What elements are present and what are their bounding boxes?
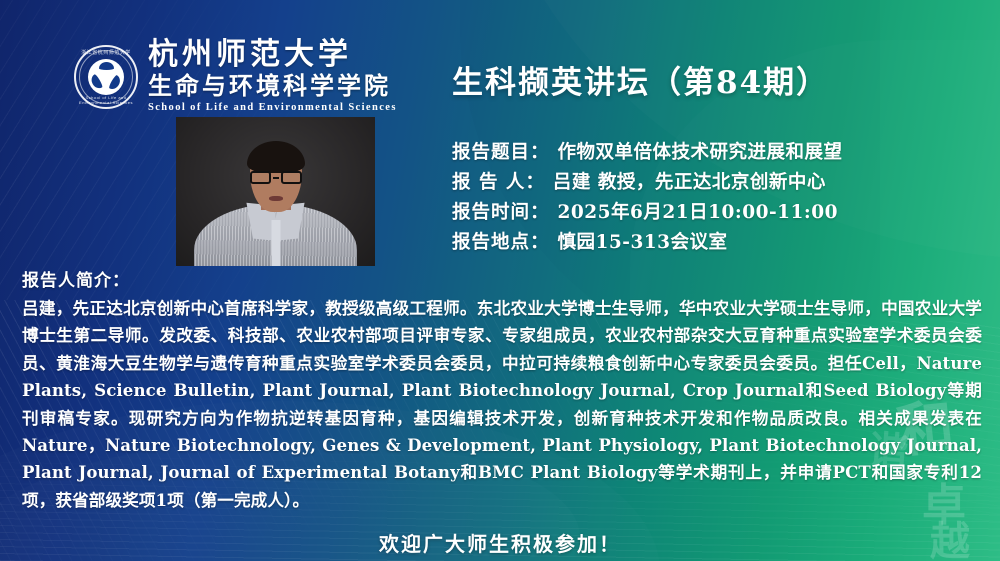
page-title: 生科撷英讲坛（第84期） — [452, 57, 829, 102]
detail-row-speaker: 报 告 人： 吕建 教授，先正达北京创新中心 — [452, 168, 843, 198]
university-seal-icon: 浙江省杭州师范大学 School of Life and Environment… — [74, 45, 138, 109]
seminar-details: 报告题目： 作物双单倍体技术研究进展和展望 报 告 人： 吕建 教授，先正达北京… — [452, 138, 843, 258]
biography-text: 吕建，先正达北京创新中心首席科学家，教授级高级工程师。东北农业大学博士生导师，华… — [22, 295, 982, 514]
logo-school-name-english: School of Life and Environmental Science… — [148, 103, 397, 114]
logo-school-name: 生命与环境科学学院 — [148, 74, 397, 98]
logo-university-name: 杭州师范大学 — [148, 40, 397, 70]
seminar-poster: 和 谐 卓 越 浙江省杭州师范大学 School of Life and Env… — [0, 0, 1000, 561]
detail-label-time: 报告时间： — [452, 198, 550, 224]
detail-label-speaker: 报 告 人： — [452, 168, 545, 194]
detail-row-time: 报告时间： 2025年6月21日10:00-11:00 — [452, 198, 843, 228]
detail-value-time: 2025年6月21日10:00-11:00 — [558, 198, 838, 224]
speaker-biography: 报告人简介： 吕建，先正达北京创新中心首席科学家，教授级高级工程师。东北农业大学… — [22, 266, 982, 514]
photo-mouth — [269, 196, 283, 201]
seal-fish-emblem-icon — [88, 59, 124, 95]
biography-heading: 报告人简介： — [22, 266, 982, 291]
glasses-icon — [250, 171, 302, 184]
detail-value-topic: 作物双单倍体技术研究进展和展望 — [558, 138, 843, 164]
detail-row-location: 报告地点： 慎园15-313会议室 — [452, 228, 843, 258]
detail-label-location: 报告地点： — [452, 228, 550, 254]
speaker-photo — [176, 117, 375, 266]
photo-shirt-placket — [271, 220, 280, 266]
detail-label-topic: 报告题目： — [452, 138, 550, 164]
detail-value-location: 慎园15-313会议室 — [558, 228, 728, 254]
logo-wordmark: 杭州师范大学 生命与环境科学学院 School of Life and Envi… — [148, 40, 397, 114]
university-logo: 浙江省杭州师范大学 School of Life and Environment… — [74, 40, 397, 114]
seal-ring-top-text: 浙江省杭州师范大学 — [76, 49, 136, 56]
footer-invitation: 欢迎广大师生积极参加！ — [0, 528, 1000, 557]
detail-value-speaker: 吕建 教授，先正达北京创新中心 — [553, 168, 826, 194]
detail-row-topic: 报告题目： 作物双单倍体技术研究进展和展望 — [452, 138, 843, 168]
seal-ring-bottom-text: School of Life and Environmental Science… — [76, 95, 136, 105]
